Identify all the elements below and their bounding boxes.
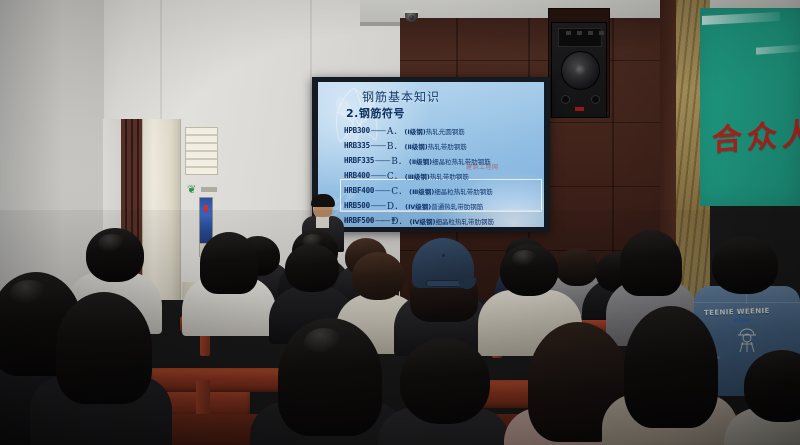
speaker-port <box>561 95 570 104</box>
slide-row-desc: (Ⅲ级钢)热轧带肋钢筋 <box>405 171 469 181</box>
slide-rows: HPB300——A．(Ⅰ级钢)热轧光圆钢筋HRB335——B．(Ⅱ级钢)热轧带肋… <box>344 123 540 227</box>
slide-watermark: 建筑工程网 <box>466 162 499 171</box>
slide-row-desc: (Ⅲ级钢)细晶粒热轧带肋钢筋 <box>409 186 493 196</box>
slide-row: HRBF335——B．(Ⅱ级钢)细晶粒热轧带肋钢筋 <box>344 153 540 168</box>
slide-row-dash: —— <box>371 126 385 135</box>
slide-row-letter: B． <box>387 139 403 152</box>
speaker-badge <box>575 107 584 111</box>
presenter-shirt <box>316 217 329 228</box>
slide-row-dash: —— <box>375 186 389 195</box>
speaker-top-panel <box>558 28 602 47</box>
slide-row-dash: —— <box>371 141 385 150</box>
slide-title: 钢筋基本知识 <box>362 88 440 105</box>
slide-row-code: HPB300 <box>344 126 370 135</box>
banner-text: 合众人 <box>712 108 800 159</box>
ac-air-grille <box>185 127 218 175</box>
slide-row-desc: (Ⅱ级钢)热轧带肋钢筋 <box>405 141 467 151</box>
slide-row: HRB500——D．(Ⅳ级钢)普通热轧带肋钢筋 <box>344 198 540 213</box>
speaker-port <box>591 95 600 104</box>
jacket-sub-text: blue <box>734 317 750 324</box>
ac-brand-plate <box>201 187 217 192</box>
slide-subtitle: 2.钢筋符号 <box>346 105 405 121</box>
jacket-brand-text: TEENIE WEENIE <box>704 307 770 317</box>
slide-row-desc: (Ⅳ级钢)细晶粒热轧带肋钢筋 <box>409 216 494 226</box>
bear-mascot-icon <box>734 326 760 354</box>
slide-row-code: HRB500 <box>344 201 370 210</box>
projected-slide: 钢筋基本知识 2.钢筋符号 HPB300——A．(Ⅰ级钢)热轧光圆钢筋HRB33… <box>318 82 544 227</box>
slide-row-code: HRB335 <box>344 141 370 150</box>
slide-row-letter: B． <box>391 154 407 167</box>
banner-glare <box>702 12 780 25</box>
slide-row: HRB335——B．(Ⅱ级钢)热轧带肋钢筋 <box>344 138 540 153</box>
ac-leaf-logo-icon: ❦ <box>187 185 199 196</box>
banner-glare <box>756 44 800 54</box>
slide-row-code: HRBF335 <box>344 156 374 165</box>
slide-row-desc: (Ⅳ级钢)普通热轧带肋钢筋 <box>405 201 483 211</box>
slide-row: HRB400——C．(Ⅲ级钢)热轧带肋钢筋 <box>344 168 540 183</box>
slide-row-letter: C． <box>391 184 407 197</box>
slide-row: HPB300——A．(Ⅰ级钢)热轧光圆钢筋 <box>344 123 540 138</box>
loudspeaker <box>551 22 607 118</box>
slide-row-desc: (Ⅰ级钢)热轧光圆钢筋 <box>404 126 464 136</box>
slide-bottom-icons: ◇ ◇ ✦ · ✹ <box>344 217 399 224</box>
security-camera-icon <box>404 10 419 22</box>
slide-row-dash: —— <box>371 201 385 210</box>
slide-row-dash: —— <box>375 156 389 165</box>
classroom-photo-scene: 合众人 ❦ <box>0 0 800 445</box>
ac-power-indicator <box>204 205 208 212</box>
slide-row: HRBF400——C．(Ⅲ级钢)细晶粒热轧带肋钢筋 <box>344 183 540 198</box>
slide-row-code: HRBF400 <box>344 186 374 195</box>
speaker-woofer <box>561 51 600 90</box>
slide-row-letter: A． <box>387 124 403 137</box>
green-banner: 合众人 <box>700 8 800 206</box>
slide-row-letter: D． <box>387 199 403 212</box>
slide-row-letter: C． <box>387 169 403 182</box>
presenter-hair <box>311 194 335 207</box>
slide-row-dash: —— <box>371 171 385 180</box>
slide-row-code: HRB400 <box>344 171 370 180</box>
